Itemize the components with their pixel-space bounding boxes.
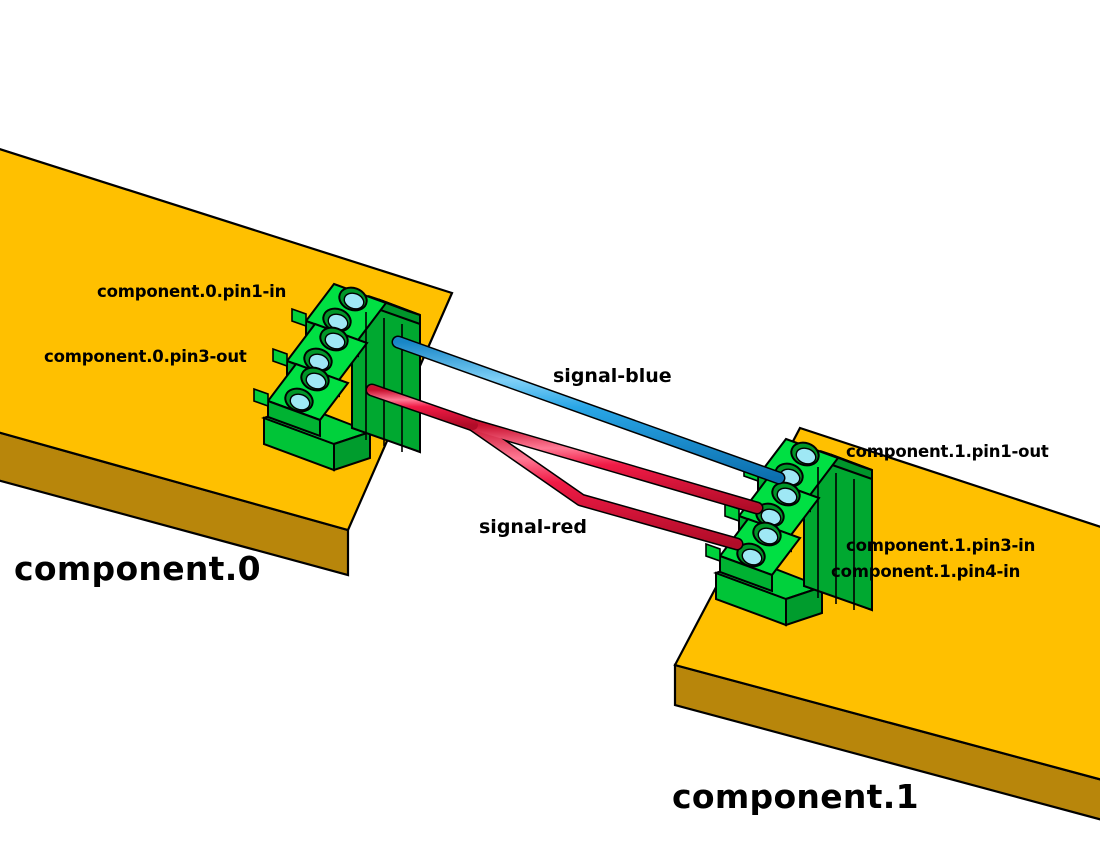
pin-label-component-0-pin3-out: component.0.pin3-out	[44, 349, 247, 366]
pcb-scene	[0, 0, 1100, 850]
board-title-component-1: component.1	[672, 780, 919, 813]
signal-label-blue: signal-blue	[553, 367, 672, 386]
diagram-canvas: component.0.pin1-in component.0.pin3-out…	[0, 0, 1100, 850]
pin-label-component-1-pin4-in: component.1.pin4-in	[831, 564, 1020, 581]
board-title-component-0: component.0	[14, 552, 261, 585]
signal-label-red: signal-red	[479, 518, 587, 537]
board-component-1[interactable]	[675, 428, 1100, 822]
pin-label-component-1-pin3-in: component.1.pin3-in	[846, 538, 1035, 555]
connector-1-tab-3	[706, 544, 720, 561]
pin-label-component-1-pin1-out: component.1.pin1-out	[846, 444, 1049, 461]
signal-red-branch-a-path	[473, 425, 757, 508]
pin-label-component-0-pin1-in: component.0.pin1-in	[97, 284, 286, 301]
